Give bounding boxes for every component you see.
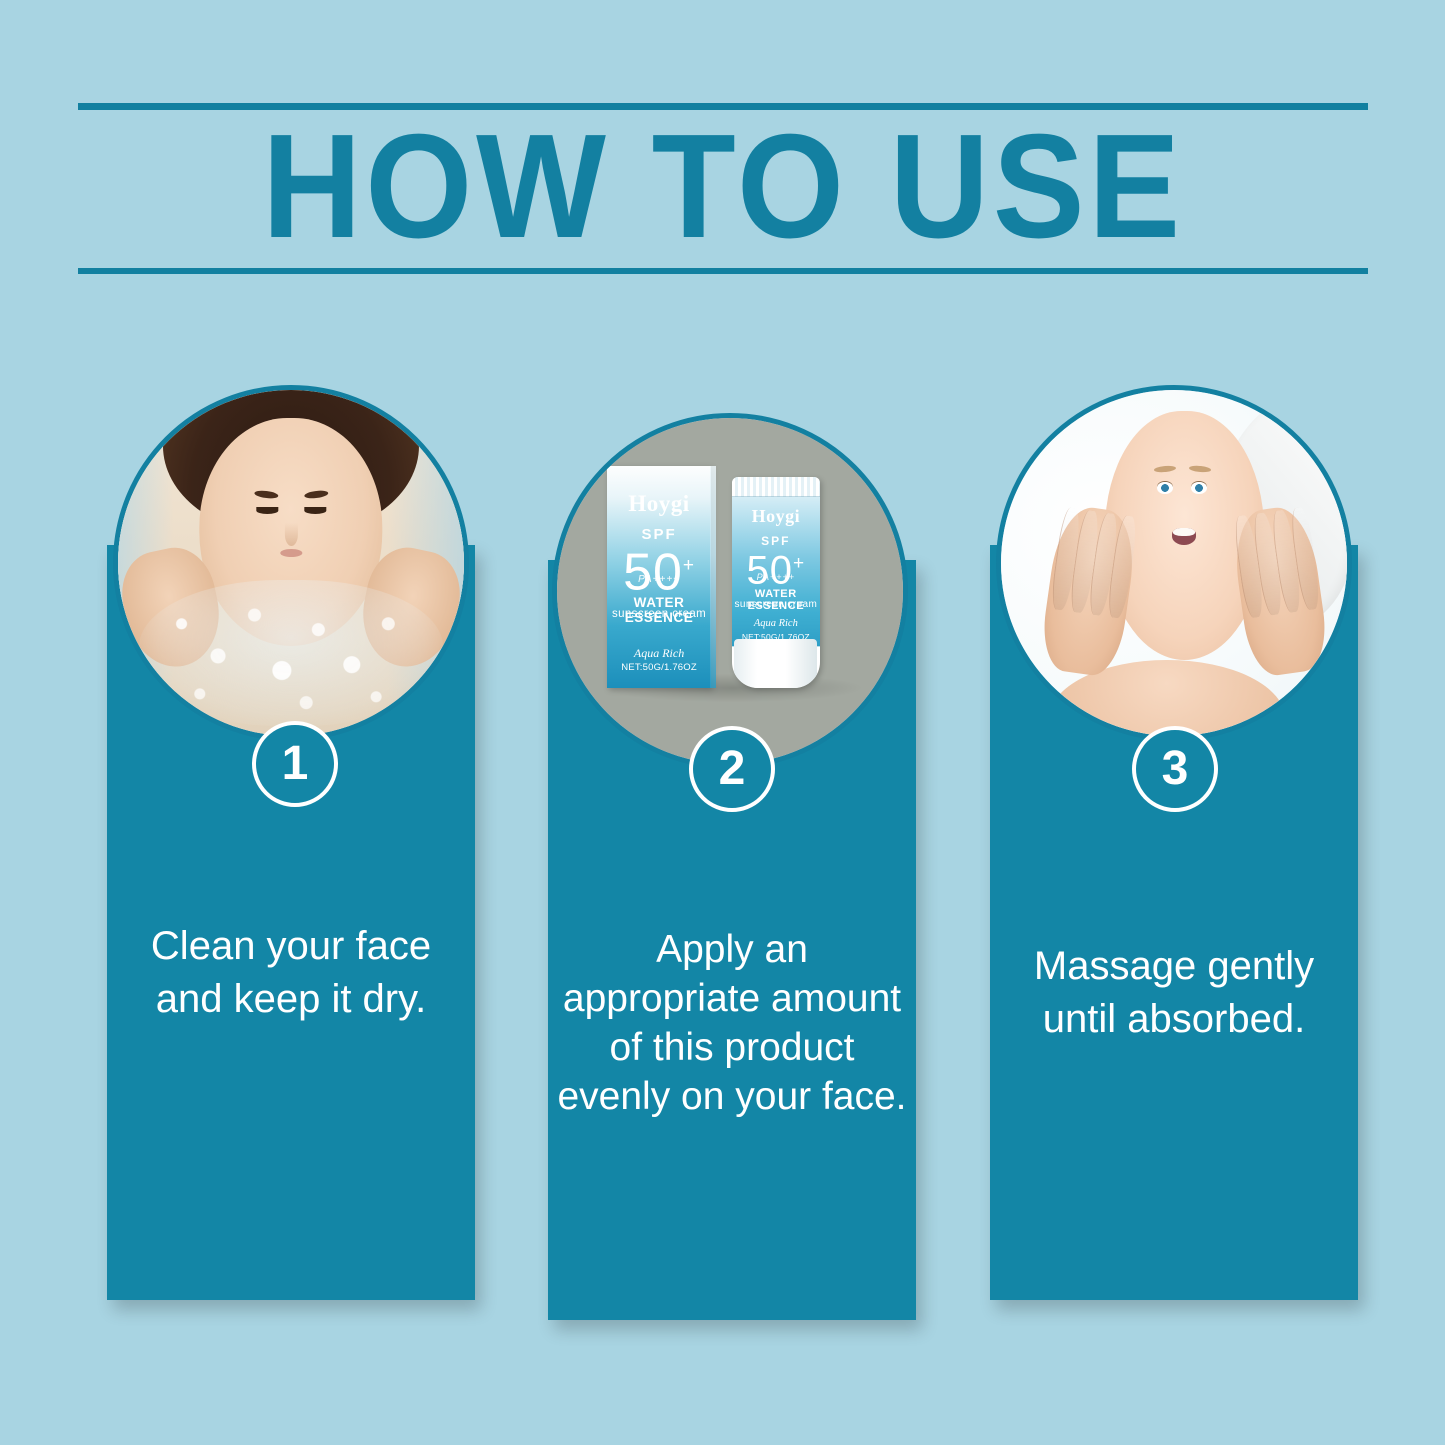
tube-brand-label: Hoygi [732,506,820,527]
box-pa-rating: PA++++ [607,574,711,585]
product-tube: Hoygi SPF 50+ PA++++ WATER ESSENCE sunsc… [732,477,820,688]
tube-line2: sunscreen cream [732,599,820,610]
step-image-circle-2: Hoygi SPF 50+ PA++++ WATER ESSENCE sunsc… [552,413,908,769]
water-splash [139,580,443,725]
step-badge-2: 2 [689,726,775,812]
step-image-circle-1 [113,385,469,741]
step-badge-3: 3 [1132,726,1218,812]
tube-cap [734,639,817,688]
box-net-weight: NET:50G/1.76OZ [607,662,711,673]
box-tagline: Aqua Rich [607,646,711,661]
box-spf-plus: + [683,555,695,576]
step-caption-3: Massage gently until absorbed. [996,940,1352,1046]
box-line2: sunscreen cream [607,608,711,620]
lips-shape [280,549,302,557]
eyebrow-left [1154,465,1177,473]
eyebrow-right [304,489,329,499]
step-caption-1: Clean your face and keep it dry. [113,920,469,1026]
mouth-shape [1172,528,1196,545]
tube-tagline: Aqua Rich [732,618,820,629]
steps-row: 1 Clean your face and keep it dry. Hoygi… [0,0,1445,1445]
eye-right [1191,482,1207,494]
how-to-use-infographic: HOW TO USE [0,0,1445,1445]
eyebrow-left [254,489,279,499]
massaging-face-image [1001,390,1347,736]
step-image-circle-3 [996,385,1352,741]
box-spf-number: 50 [623,543,683,601]
product-image: Hoygi SPF 50+ PA++++ WATER ESSENCE sunsc… [557,418,903,764]
nose-shape [285,523,298,546]
tube-spf-value: 50+ [732,544,820,590]
product-box: Hoygi SPF 50+ PA++++ WATER ESSENCE sunsc… [607,466,711,687]
eyebrow-right [1189,465,1212,473]
hand-left [1038,503,1140,679]
box-brand-label: Hoygi [607,491,711,517]
box-spf-value: 50+ [607,540,711,598]
eye-left [256,507,278,514]
washing-face-image [118,390,464,736]
tube-spf-number: 50 [747,549,794,593]
step-badge-1: 1 [252,721,338,807]
tube-pa-rating: PA++++ [732,572,820,582]
eye-right [304,507,326,514]
tube-crimp [732,477,820,497]
eye-left [1157,482,1173,494]
step-caption-2: Apply an appropriate amount of this prod… [554,925,910,1121]
